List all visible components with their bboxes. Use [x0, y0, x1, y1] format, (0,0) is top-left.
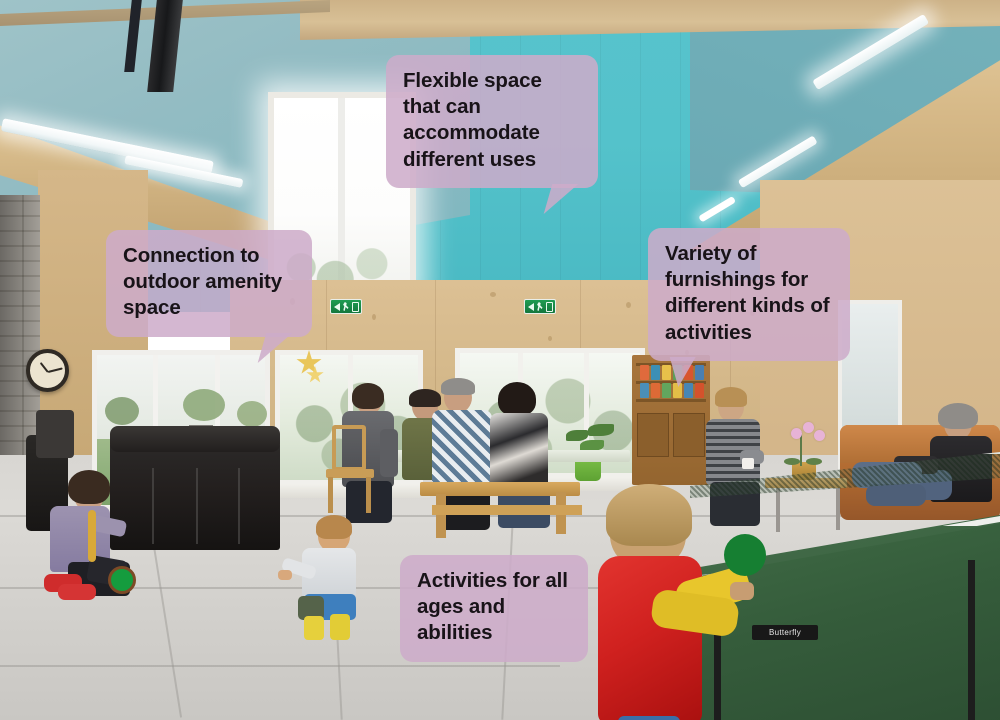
plant-leaf [588, 424, 614, 436]
callout-flexible-space[interactable]: Flexible space that can accommodate diff… [386, 55, 598, 188]
callout-activities-all-ages[interactable]: Activities for all ages and abilities [400, 555, 588, 662]
orchid-bloom [803, 422, 814, 433]
annotated-photo-stage: Butterfly Flexible space that can accomm… [0, 0, 1000, 720]
sofa-back-panel [36, 410, 74, 458]
orchid-bloom [814, 430, 825, 441]
exit-sign [330, 299, 362, 314]
table-leg [776, 488, 780, 532]
table-tennis-bat [724, 534, 766, 576]
dining-chair [326, 425, 374, 511]
callout-text: Activities for all ages and abilities [417, 569, 568, 644]
exit-sign [524, 299, 556, 314]
plant-leaf [566, 430, 588, 441]
table-tennis-bat [108, 566, 136, 594]
callout-text: Variety of furnishings for different kin… [665, 242, 829, 344]
table-leg [968, 560, 975, 720]
orchid-bloom [791, 428, 802, 439]
callout-variety-of-furnishings[interactable]: Variety of furnishings for different kin… [648, 228, 850, 361]
wall-clock [26, 349, 69, 392]
callout-text: Flexible space that can accommodate diff… [403, 69, 542, 171]
black-leather-sofa [110, 440, 280, 550]
person-legs [866, 484, 926, 506]
orchid-leaf [806, 458, 822, 465]
table-tennis-brand-logo: Butterfly [752, 625, 818, 640]
callout-outdoor-connection[interactable]: Connection to outdoor amenity space [106, 230, 312, 337]
bench-leg [436, 494, 446, 538]
orchid-leaf [784, 458, 800, 465]
timber-bench [432, 505, 582, 515]
table-leg [836, 488, 840, 530]
callout-text: Connection to outdoor amenity space [123, 244, 282, 319]
